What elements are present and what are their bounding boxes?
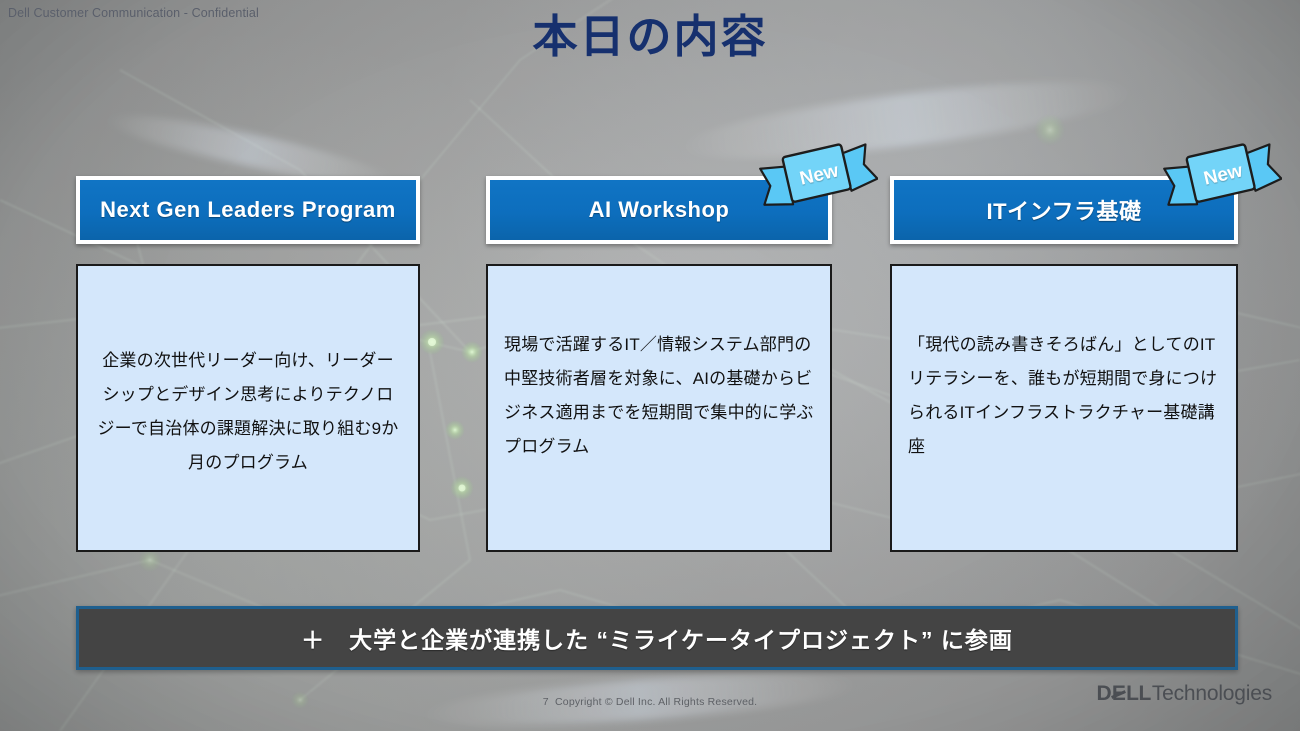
page-number: 7 [543, 696, 549, 708]
page-title: 本日の内容 [0, 6, 1300, 68]
card-header-label: AI Workshop [589, 197, 730, 223]
dell-logo-slashed-e: E [1111, 682, 1126, 706]
card-header-label: Next Gen Leaders Program [100, 197, 396, 223]
copyright-text: Copyright © Dell Inc. All Rights Reserve… [555, 696, 757, 708]
card-body-text: 企業の次世代リーダー向け、リーダーシップとデザイン思考によりテクノロジーで自治体… [94, 344, 402, 480]
card-body-text: 「現代の読み書きそろばん」としてのITリテラシーを、誰もが短期間で身につけられる… [908, 328, 1220, 464]
highlight-bar-label: ＋ 大学と企業が連携した “ミライケータイプロジェクト” に参画 [301, 621, 1013, 655]
program-card-ai-workshop[interactable]: AI Workshop 現場で活躍するIT／情報システム部門の中堅技術者層を対象… [486, 176, 832, 552]
dell-technologies-logo: DELL Technologies [1096, 682, 1272, 706]
ribbon-icon [1162, 142, 1282, 216]
card-header-label: ITインフラ基礎 [987, 194, 1142, 226]
dell-logo-d: D [1096, 682, 1111, 705]
program-card-next-gen-leaders-program[interactable]: Next Gen Leaders Program 企業の次世代リーダー向け、リー… [76, 176, 420, 552]
slide-canvas: Dell Customer Communication - Confidenti… [0, 0, 1300, 731]
dell-logo-ll: LL [1126, 682, 1151, 705]
card-body: 「現代の読み書きそろばん」としてのITリテラシーを、誰もが短期間で身につけられる… [890, 264, 1238, 552]
technologies-wordmark: Technologies [1152, 682, 1272, 706]
card-body: 現場で活躍するIT／情報システム部門の中堅技術者層を対象に、AIの基礎からビジネ… [486, 264, 832, 552]
new-badge-ribbon-ai-workshop: New [758, 142, 878, 216]
dell-wordmark: DELL [1096, 682, 1150, 706]
program-card-it-infra-basics[interactable]: ITインフラ基礎 「現代の読み書きそろばん」としてのITリテラシーを、誰もが短期… [890, 176, 1238, 552]
new-badge-ribbon-it-infra-basics: New [1162, 142, 1282, 216]
card-body-text: 現場で活躍するIT／情報システム部門の中堅技術者層を対象に、AIの基礎からビジネ… [504, 328, 814, 464]
highlight-bar[interactable]: ＋ 大学と企業が連携した “ミライケータイプロジェクト” に参画 [76, 606, 1238, 670]
card-header[interactable]: Next Gen Leaders Program [76, 176, 420, 244]
ribbon-icon [758, 142, 878, 216]
card-body: 企業の次世代リーダー向け、リーダーシップとデザイン思考によりテクノロジーで自治体… [76, 264, 420, 552]
